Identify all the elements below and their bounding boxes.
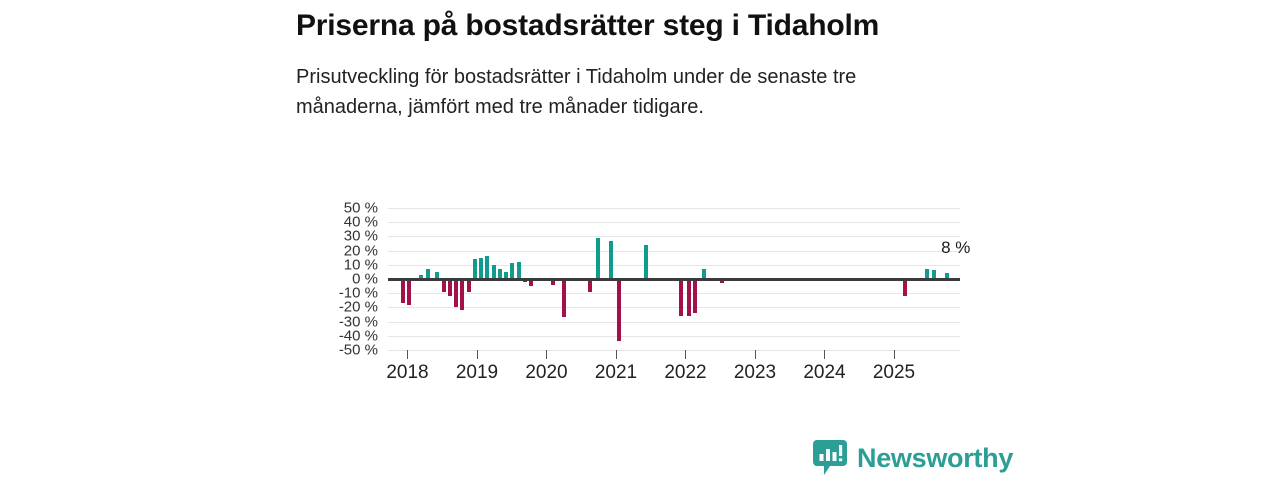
chart-bar[interactable] [617, 279, 621, 341]
x-axis-tick [407, 350, 408, 359]
chart-bar[interactable] [460, 279, 464, 310]
chart-bar[interactable] [903, 279, 907, 296]
x-axis-tick-label: 2025 [873, 362, 915, 384]
gridline [388, 336, 960, 337]
chart-bar[interactable] [492, 265, 496, 279]
gridline [388, 208, 960, 209]
chart-bar[interactable] [448, 279, 452, 296]
gridline [388, 322, 960, 323]
chart-bar[interactable] [473, 259, 477, 279]
x-axis: 20182019202020212022202320242025 [388, 350, 960, 394]
gridline [388, 236, 960, 237]
x-axis-tick-label: 2019 [456, 362, 498, 384]
x-axis-tick-label: 2022 [664, 362, 706, 384]
y-axis-labels: 50 %40 %30 %20 %10 %0 %-10 %-20 %-30 %-4… [296, 208, 384, 350]
x-axis-tick-label: 2020 [525, 362, 567, 384]
x-axis-tick [477, 350, 478, 359]
gridline [388, 251, 960, 252]
gridline [388, 222, 960, 223]
x-axis-tick [546, 350, 547, 359]
x-axis-line [388, 350, 960, 351]
chart-bar[interactable] [687, 279, 691, 316]
chart-bar[interactable] [401, 279, 405, 303]
x-axis-tick-label: 2018 [386, 362, 428, 384]
chart-bar[interactable] [517, 262, 521, 279]
x-axis-tick [616, 350, 617, 359]
chart-bar[interactable] [693, 279, 697, 313]
chart-container: 50 %40 %30 %20 %10 %0 %-10 %-20 %-30 %-4… [296, 196, 986, 396]
chart-bar[interactable] [562, 279, 566, 317]
x-axis-tick [894, 350, 895, 359]
zero-baseline [388, 278, 960, 281]
x-axis-tick-label: 2024 [803, 362, 845, 384]
x-axis-tick [755, 350, 756, 359]
x-axis-tick [824, 350, 825, 359]
logo-wordmark: Newsworthy [857, 445, 1013, 472]
page-title: Priserna på bostadsrätter steg i Tidahol… [296, 0, 996, 44]
chart-bar[interactable] [510, 263, 514, 279]
gridline [388, 293, 960, 294]
x-axis-tick-label: 2021 [595, 362, 637, 384]
chart-bar[interactable] [596, 238, 600, 279]
chart-bar[interactable] [679, 279, 683, 316]
x-axis-tick [685, 350, 686, 359]
chart-bar[interactable] [407, 279, 411, 305]
bar-chart-speech-bubble-icon [813, 440, 847, 476]
header-block: Priserna på bostadsrätter steg i Tidahol… [296, 0, 996, 123]
chart-bar[interactable] [454, 279, 458, 307]
value-annotation: 8 % [941, 238, 970, 258]
y-axis-tick-label: -50 % [339, 343, 378, 358]
chart-bar[interactable] [609, 241, 613, 279]
chart-bar[interactable] [485, 256, 489, 279]
x-axis-tick-label: 2023 [734, 362, 776, 384]
chart-bar[interactable] [479, 258, 483, 279]
newsworthy-logo[interactable]: Newsworthy [813, 440, 1013, 476]
gridline [388, 307, 960, 308]
chart-subtitle: Prisutveckling för bostadsrätter i Tidah… [296, 44, 916, 123]
plot-area: 8 % [388, 208, 960, 350]
chart-bar[interactable] [644, 245, 648, 279]
